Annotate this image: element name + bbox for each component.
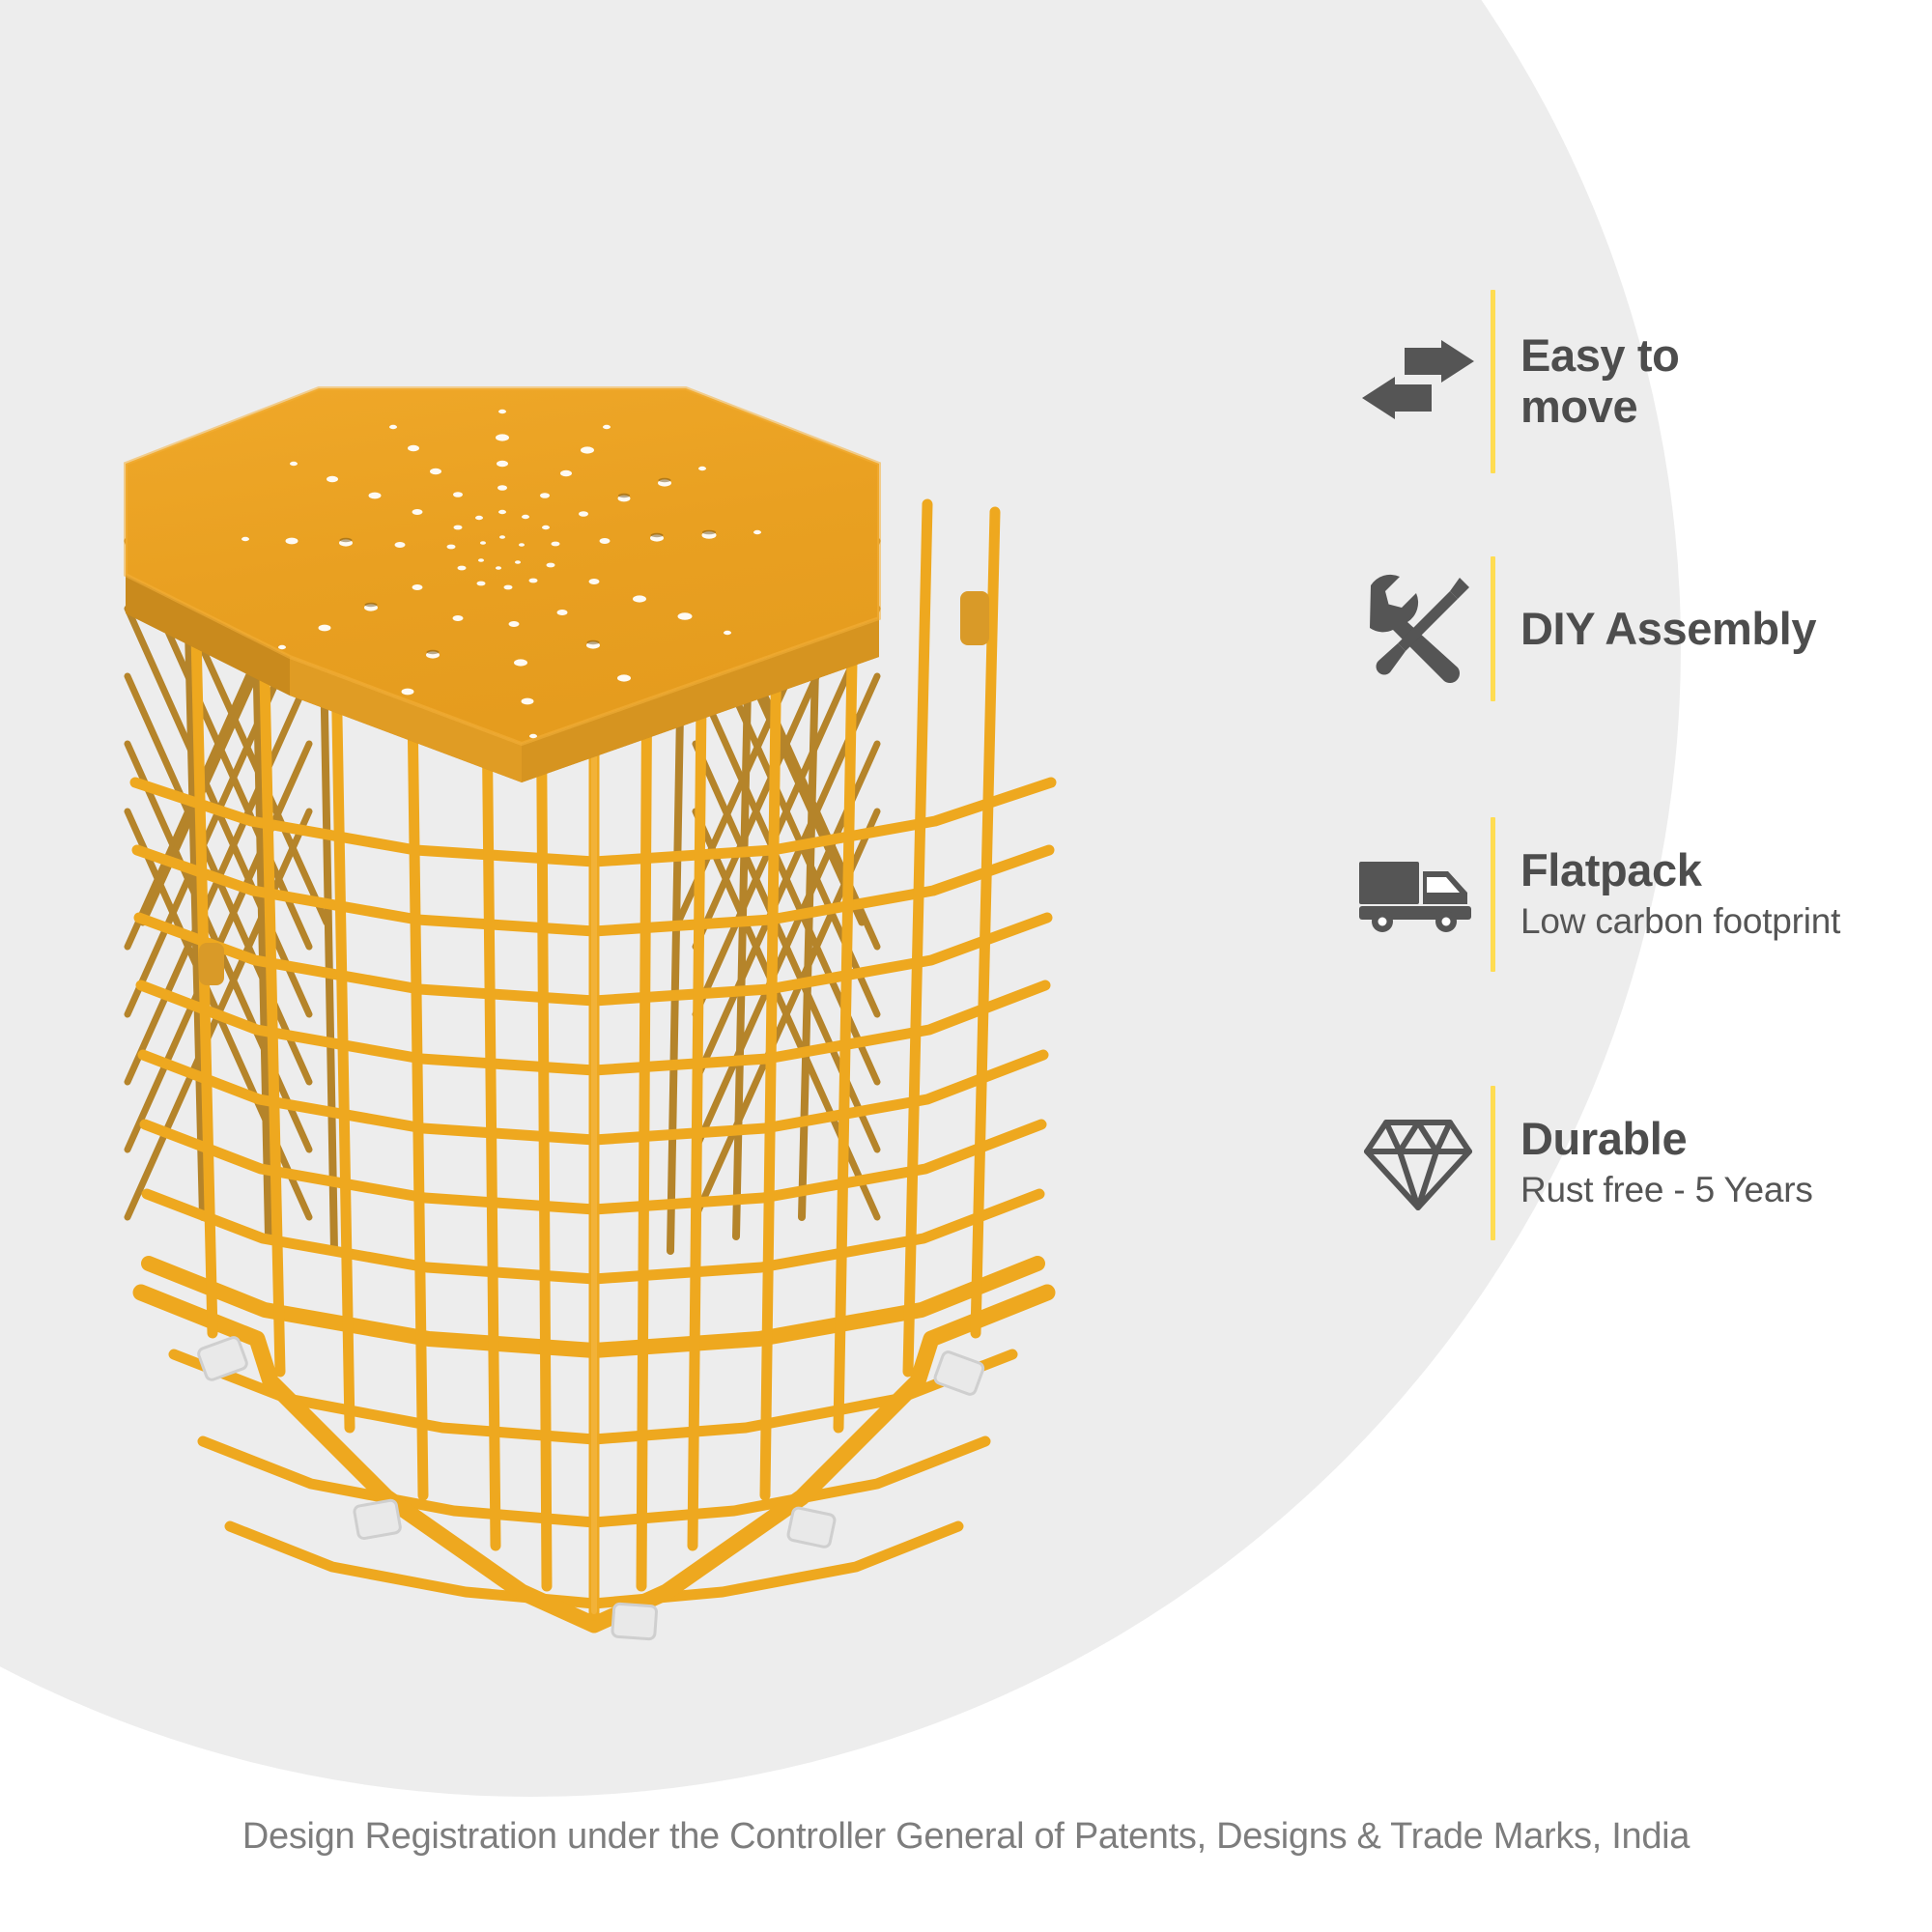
feature-item-durable[interactable]: Durable Rust free - 5 Years	[1352, 1086, 1913, 1240]
feature-text: Easy to move	[1520, 330, 1679, 432]
footer-note: Design Registration under the Controller…	[0, 1816, 1932, 1858]
feature-item-diy-assembly[interactable]: DIY Assembly	[1352, 556, 1913, 701]
feature-divider	[1491, 556, 1495, 701]
feature-title: Flatpack	[1520, 845, 1840, 896]
feature-divider	[1491, 290, 1495, 473]
feature-title: Durable	[1520, 1114, 1813, 1165]
feature-subtitle: Low carbon footprint	[1520, 900, 1840, 943]
feature-list: Easy to move	[1352, 290, 1913, 1240]
feature-subtitle: Rust free - 5 Years	[1520, 1169, 1813, 1211]
feature-title: DIY Assembly	[1520, 604, 1816, 655]
product-image	[68, 367, 1111, 1700]
two-way-arrows-icon	[1352, 340, 1483, 423]
infographic-canvas: Easy to move	[0, 0, 1932, 1932]
feature-item-easy-to-move[interactable]: Easy to move	[1352, 290, 1913, 473]
diamond-icon	[1352, 1113, 1483, 1213]
feature-divider	[1491, 1086, 1495, 1240]
feature-divider	[1491, 817, 1495, 972]
feature-item-flatpack[interactable]: Flatpack Low carbon footprint	[1352, 817, 1913, 972]
delivery-truck-icon	[1352, 854, 1483, 935]
feature-text: Flatpack Low carbon footprint	[1520, 845, 1840, 943]
feature-text: DIY Assembly	[1520, 604, 1816, 655]
wrench-screwdriver-icon	[1352, 572, 1483, 686]
feature-title: Easy to move	[1520, 330, 1679, 432]
feature-text: Durable Rust free - 5 Years	[1520, 1114, 1813, 1211]
